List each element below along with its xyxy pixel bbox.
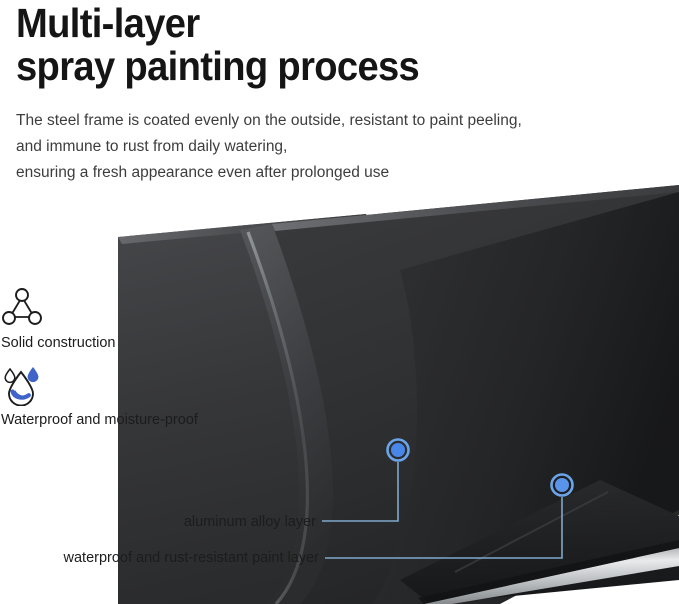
callout-label-aluminum-alloy: aluminum alloy layer xyxy=(0,514,316,530)
feature-waterproof: Waterproof and moisture-proof xyxy=(2,364,198,428)
feature-waterproof-label: Waterproof and moisture-proof xyxy=(1,412,198,428)
feature-solid-construction-label: Solid construction xyxy=(1,335,115,351)
description-text: The steel frame is coated evenly on the … xyxy=(16,108,656,186)
page-title: Multi-layer spray painting process xyxy=(16,2,611,88)
water-droplet-icon xyxy=(2,364,46,406)
infographic-page: Multi-layer spray painting process The s… xyxy=(0,0,679,604)
feature-solid-construction: Solid construction xyxy=(2,286,115,351)
triangle-nodes-icon xyxy=(2,286,42,328)
callout-label-paint: waterproof and rust-resistant paint laye… xyxy=(0,550,319,566)
